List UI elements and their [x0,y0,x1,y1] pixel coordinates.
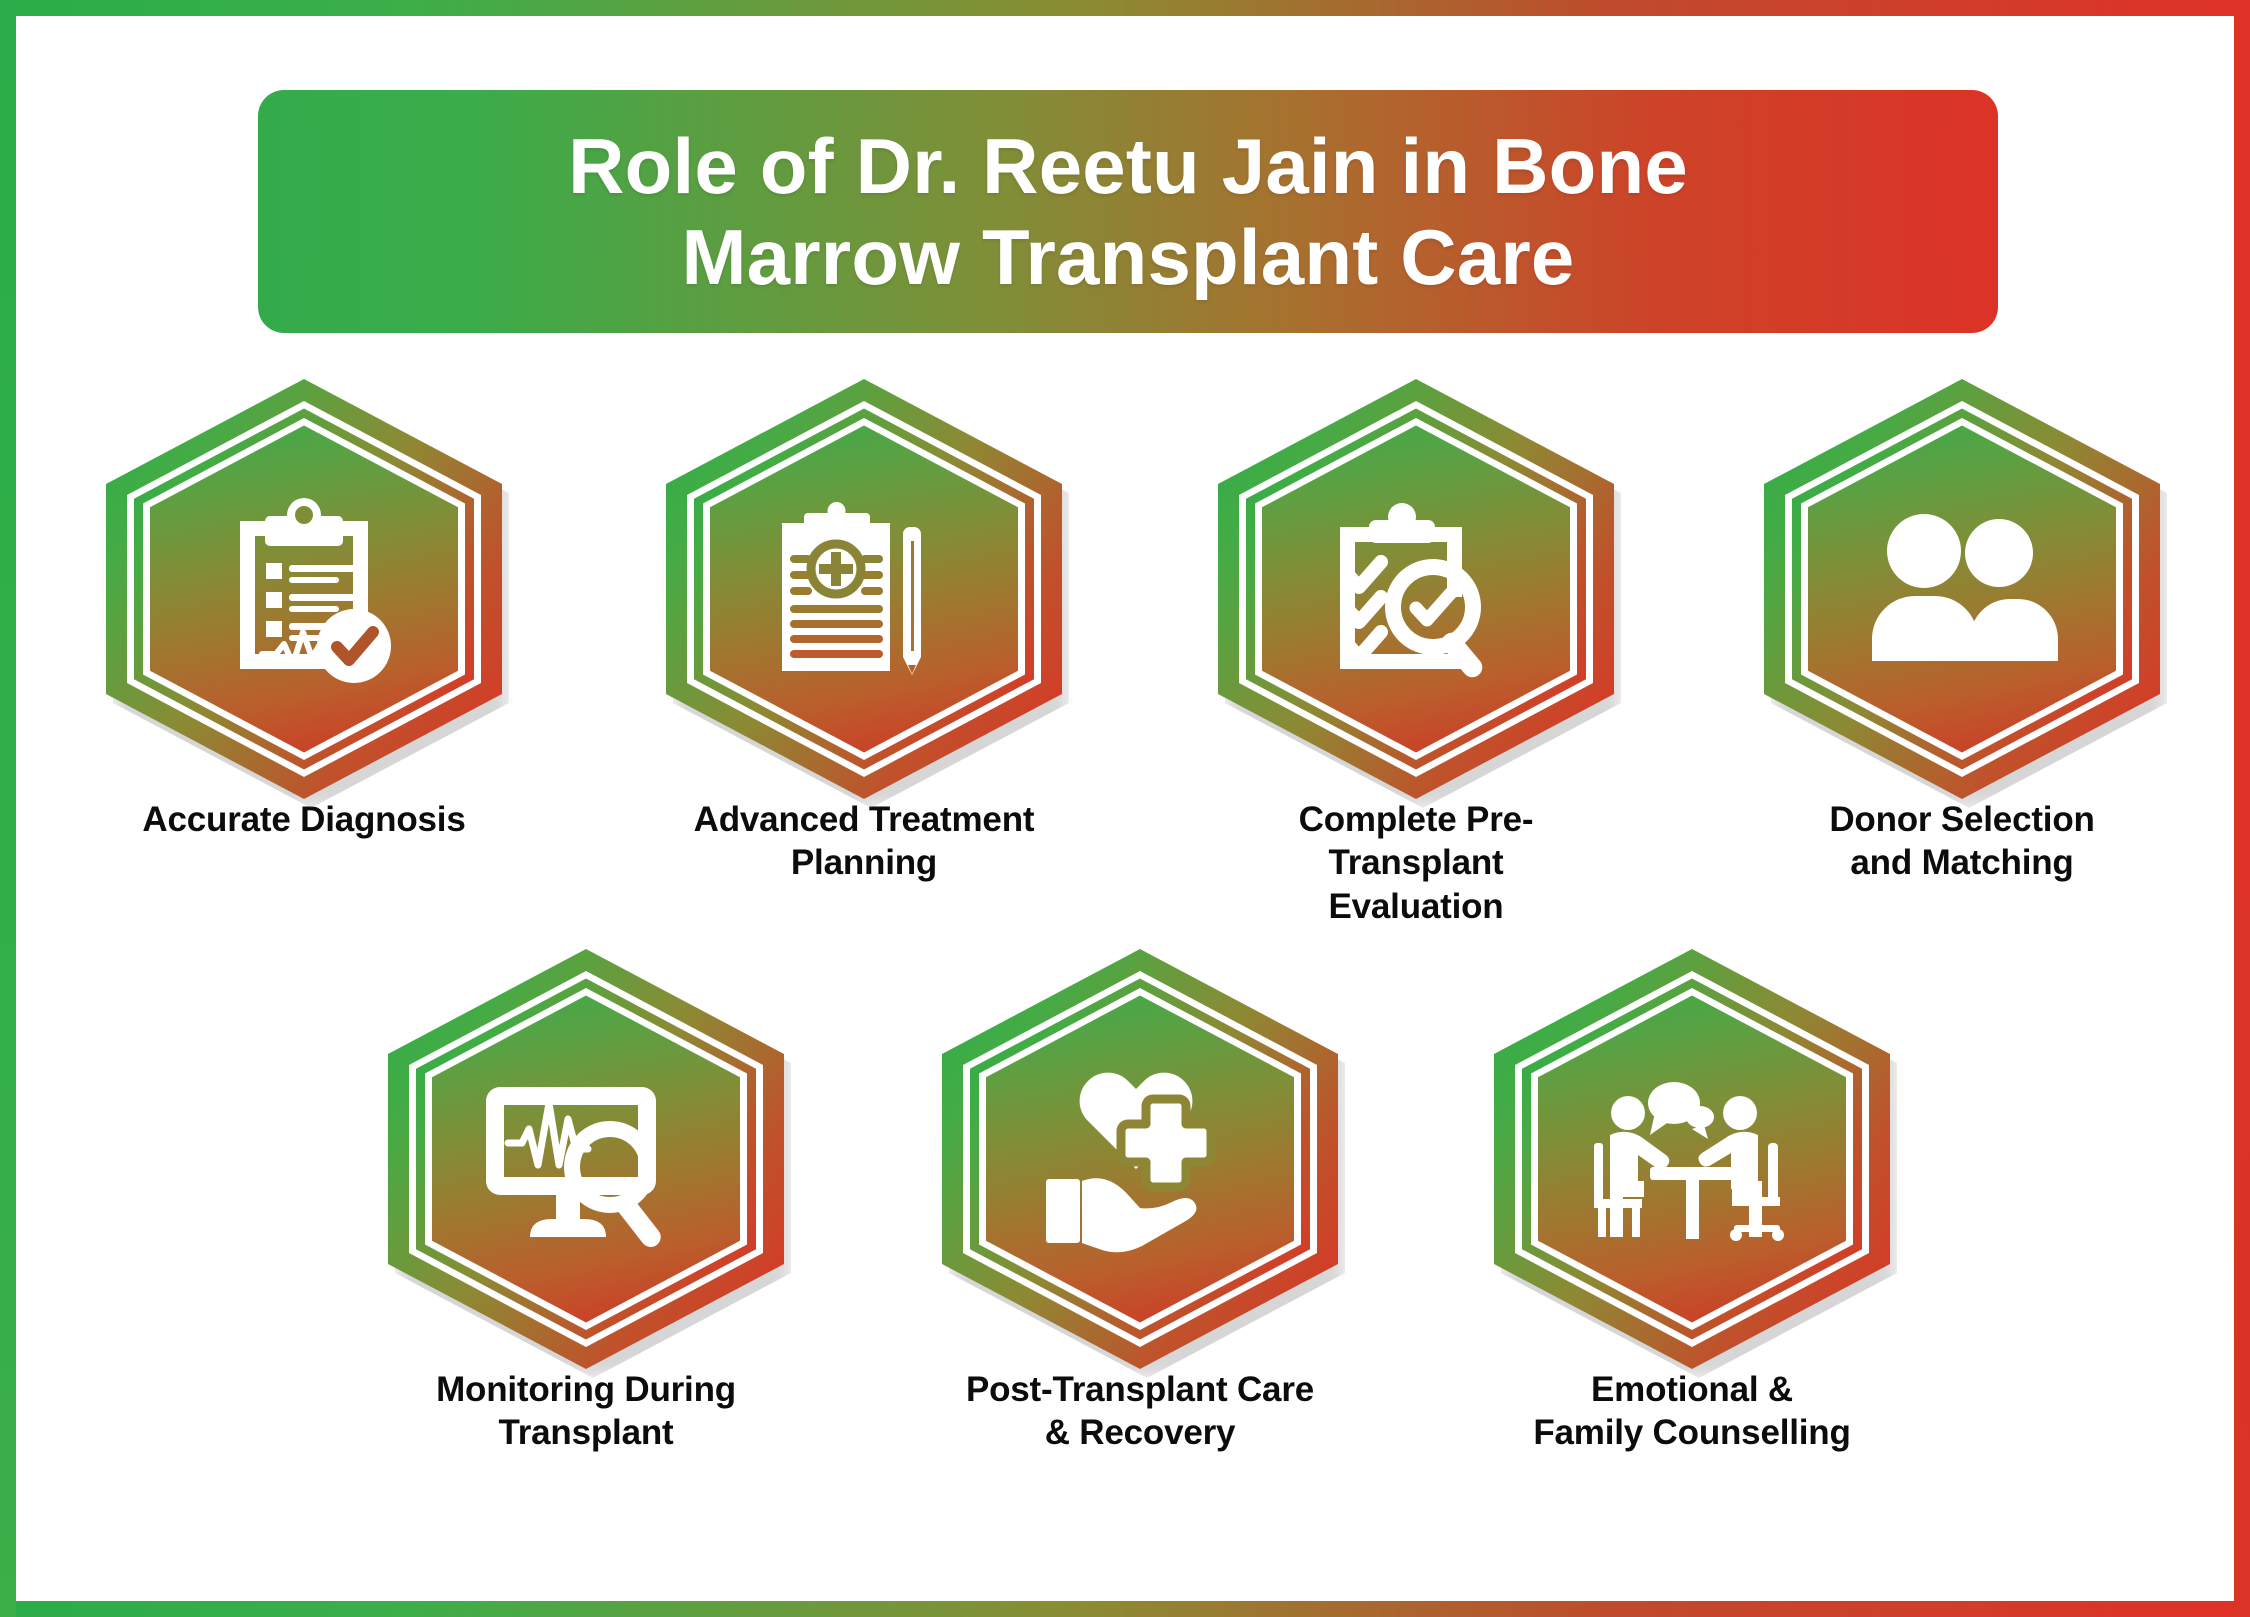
badge-label: Post-Transplant Care & Recovery [940,1368,1340,1455]
badge-post-transplant-care-recovery[interactable]: Post-Transplant Care & Recovery [940,944,1340,1455]
hand-heart-cross-icon [1035,1054,1245,1264]
hexagon-frame [1762,374,2162,804]
medical-report-pencil-icon [759,484,969,694]
hexagon-frame [1492,944,1892,1374]
badge-accurate-diagnosis[interactable]: Accurate Diagnosis [104,374,504,841]
two-people-icon [1857,484,2067,694]
checklist-magnifier-icon [1311,484,1521,694]
clipboard-check-icon [199,484,409,694]
hexagon-frame [386,944,786,1374]
frame-border-left [0,0,16,1617]
badge-advanced-treatment-planning[interactable]: Advanced Treatment Planning [664,374,1064,885]
badge-label: Advanced Treatment Planning [664,798,1064,885]
page-title: Role of Dr. Reetu Jain in Bone Marrow Tr… [568,121,1688,302]
monitor-ecg-magnifier-icon [481,1054,691,1264]
badge-label: Donor Selection and Matching [1762,798,2162,885]
title-banner: Role of Dr. Reetu Jain in Bone Marrow Tr… [258,90,1998,333]
badge-monitoring-during-transplant[interactable]: Monitoring During Transplant [386,944,786,1455]
hexagon-frame [104,374,504,804]
badge-donor-selection-and-matching[interactable]: Donor Selection and Matching [1762,374,2162,885]
frame-border-top [0,0,2250,16]
frame-border-bottom [0,1601,2250,1617]
hexagon-frame [1216,374,1616,804]
badge-label: Accurate Diagnosis [104,798,504,841]
hexagon-frame [664,374,1064,804]
frame-border-right [2234,0,2250,1617]
infographic-page: Role of Dr. Reetu Jain in Bone Marrow Tr… [0,0,2250,1617]
counselling-meeting-icon [1587,1054,1797,1264]
badge-label: Monitoring During Transplant [386,1368,786,1455]
badge-label: Emotional & Family Counselling [1492,1368,1892,1455]
badge-complete-pre-transplant-evaluation[interactable]: Complete Pre-Transplant Evaluation [1216,374,1616,928]
badge-label: Complete Pre-Transplant Evaluation [1216,798,1616,928]
badge-emotional-family-counselling[interactable]: Emotional & Family Counselling [1492,944,1892,1455]
hexagon-frame [940,944,1340,1374]
